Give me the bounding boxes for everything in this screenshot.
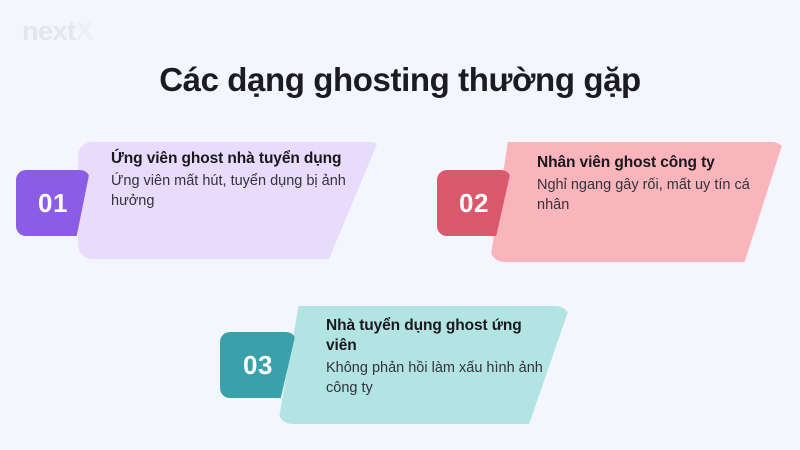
card-heading-02: Nhân viên ghost công ty (537, 153, 767, 173)
card-text-block: Ứng viên ghost nhà tuyển dụng Ứng viên m… (111, 149, 346, 212)
card-description-03: Không phản hồi làm xấu hình ảnh công ty (326, 358, 554, 399)
card-description-02: Nghỉ ngang gây rối, mất uy tín cá nhân (537, 175, 767, 216)
nextx-watermark: nextX (22, 18, 93, 45)
card-text-block: Nhà tuyển dụng ghost ứng viên Không phản… (326, 316, 554, 399)
ghosting-type-card-03: 03 Nhà tuyển dụng ghost ứng viên Không p… (278, 306, 570, 424)
card-description-01: Ứng viên mất hút, tuyển dụng bị ảnh hưởn… (111, 171, 346, 212)
watermark-text-accent: X (76, 16, 94, 46)
card-heading-03: Nhà tuyển dụng ghost ứng viên (326, 316, 554, 356)
watermark-text-primary: next (22, 16, 76, 46)
page-title: Các dạng ghosting thường gặp (0, 60, 800, 100)
ghosting-type-card-01: 01 Ứng viên ghost nhà tuyển dụng Ứng viê… (78, 142, 384, 259)
ghosting-type-card-02: 02 Nhân viên ghost công ty Nghỉ ngang gâ… (490, 142, 786, 262)
card-text-block: Nhân viên ghost công ty Nghỉ ngang gây r… (537, 153, 767, 216)
card-heading-01: Ứng viên ghost nhà tuyển dụng (111, 149, 346, 169)
